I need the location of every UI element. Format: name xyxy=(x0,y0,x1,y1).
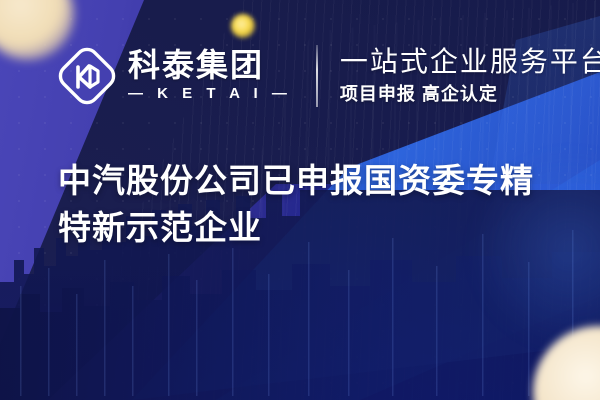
ketai-diamond-monogram-icon xyxy=(56,45,118,107)
banner-header: 科泰集团 — K E T A I — 一站式企业服务平台 项目申报 高企认定 xyxy=(56,38,600,114)
yellow-dot-orb xyxy=(231,14,255,38)
brand-name-cn: 科泰集团 xyxy=(128,49,292,83)
headline-text: 中汽股份公司已申报国资委专精特新示范企业 xyxy=(58,158,538,252)
tagline-main: 一站式企业服务平台 xyxy=(340,46,600,78)
cream-glow-orb xyxy=(533,326,600,400)
promo-banner: 科泰集团 — K E T A I — 一站式企业服务平台 项目申报 高企认定 中… xyxy=(0,0,600,400)
tagline-block: 一站式企业服务平台 项目申报 高企认定 xyxy=(340,46,600,106)
brand-wordmark: 科泰集团 — K E T A I — xyxy=(128,49,292,102)
tagline-sub: 项目申报 高企认定 xyxy=(340,84,600,106)
brand-name-en: — K E T A I — xyxy=(128,86,292,103)
header-divider xyxy=(316,45,318,107)
